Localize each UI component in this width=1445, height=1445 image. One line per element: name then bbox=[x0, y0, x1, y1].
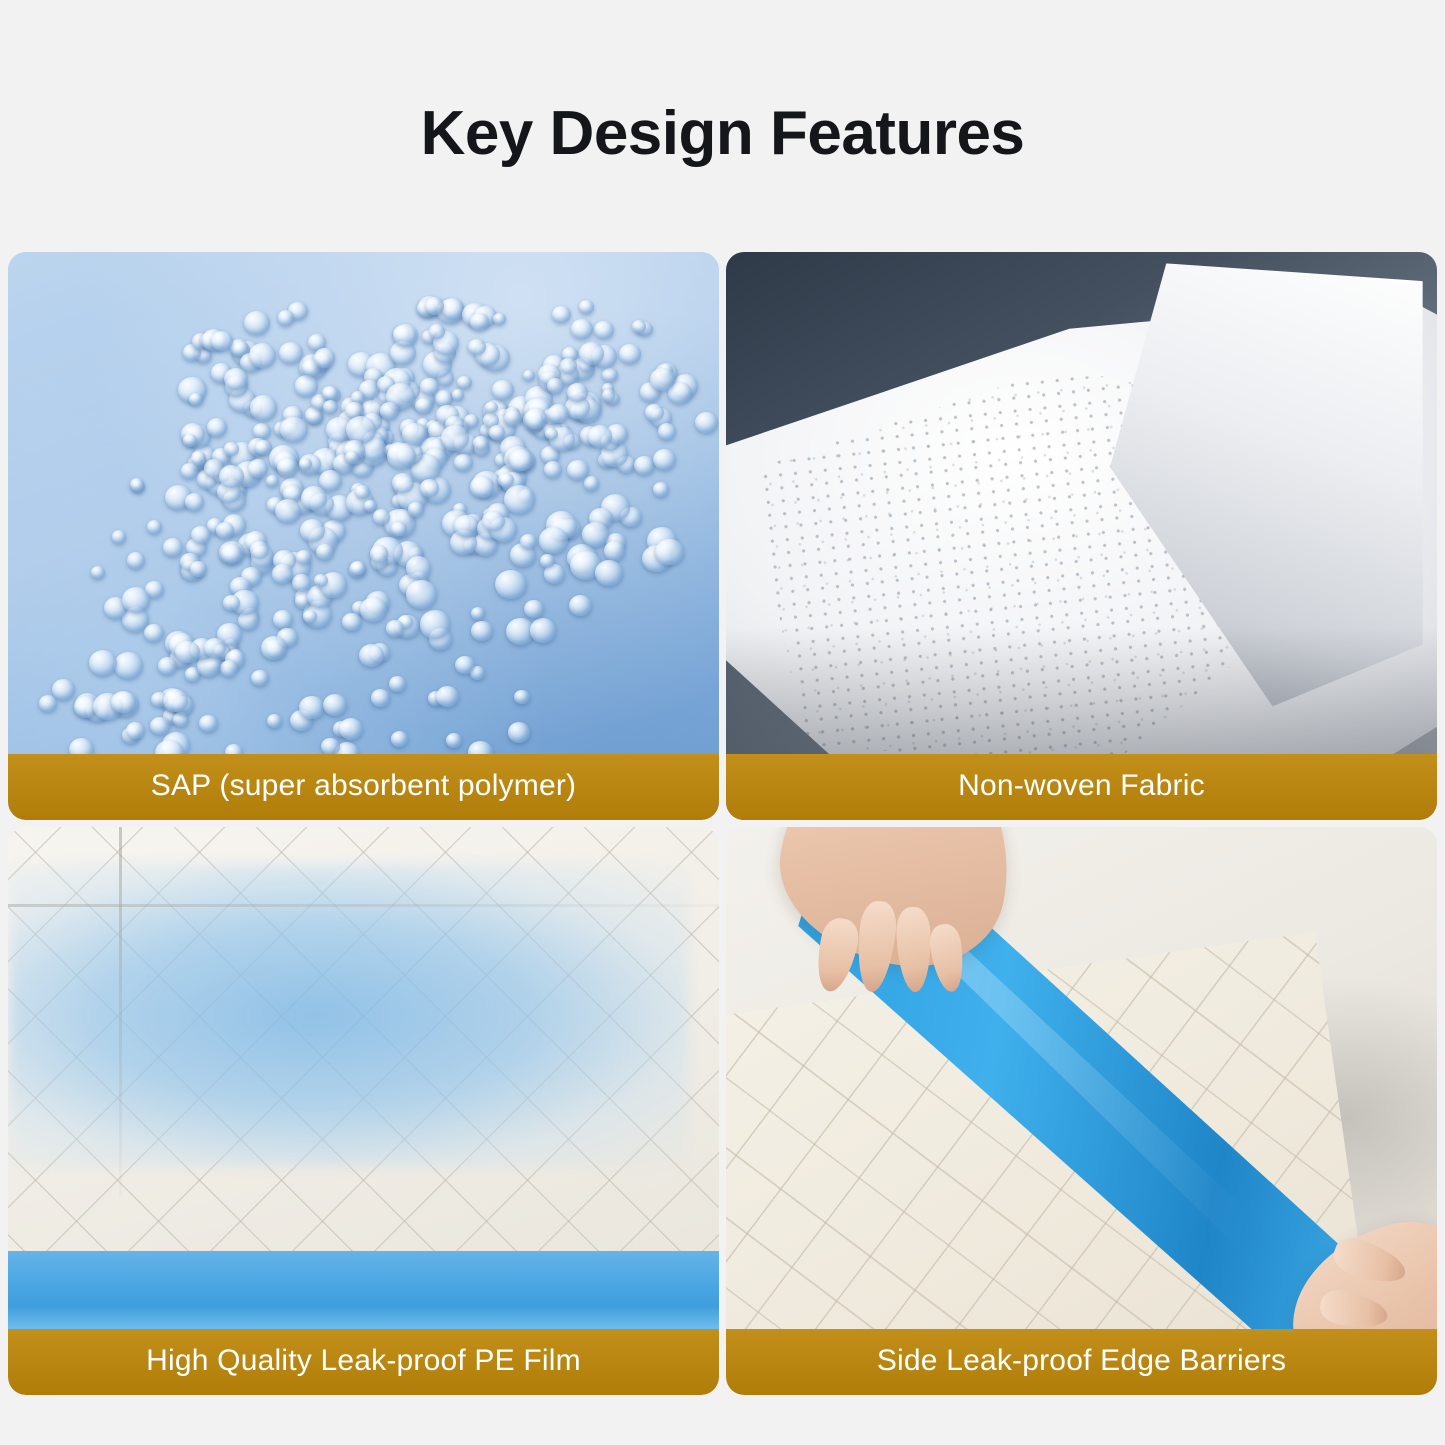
feature-card-sap[interactable]: SAP (super absorbent polymer) bbox=[8, 252, 719, 820]
feature-card-edge-barriers[interactable]: Side Leak-proof Edge Barriers bbox=[726, 827, 1437, 1395]
feature-grid: SAP (super absorbent polymer) Non-woven … bbox=[8, 252, 1437, 1437]
pe-film-pad bbox=[8, 827, 719, 1304]
key-design-features-page: Key Design Features SAP (super absorbent… bbox=[0, 0, 1445, 1445]
pe-film-crease-vertical bbox=[119, 827, 122, 1197]
edge-barriers-photo bbox=[726, 827, 1437, 1395]
pe-film-photo bbox=[8, 827, 719, 1395]
caption-sap: SAP (super absorbent polymer) bbox=[8, 754, 719, 820]
pe-film-crease-horizontal bbox=[8, 904, 719, 907]
caption-edge-barriers: Side Leak-proof Edge Barriers bbox=[726, 1329, 1437, 1395]
caption-pe-film: High Quality Leak-proof PE Film bbox=[8, 1329, 719, 1395]
pe-film-blue-strip bbox=[8, 1251, 719, 1329]
pe-film-blue-core bbox=[9, 864, 689, 1167]
feature-card-non-woven-fabric[interactable]: Non-woven Fabric bbox=[726, 252, 1437, 820]
sap-beads bbox=[8, 252, 719, 820]
non-woven-photo bbox=[726, 252, 1437, 820]
caption-non-woven-fabric: Non-woven Fabric bbox=[726, 754, 1437, 820]
feature-card-pe-film[interactable]: High Quality Leak-proof PE Film bbox=[8, 827, 719, 1395]
sap-photo bbox=[8, 252, 719, 820]
page-title: Key Design Features bbox=[0, 0, 1445, 252]
